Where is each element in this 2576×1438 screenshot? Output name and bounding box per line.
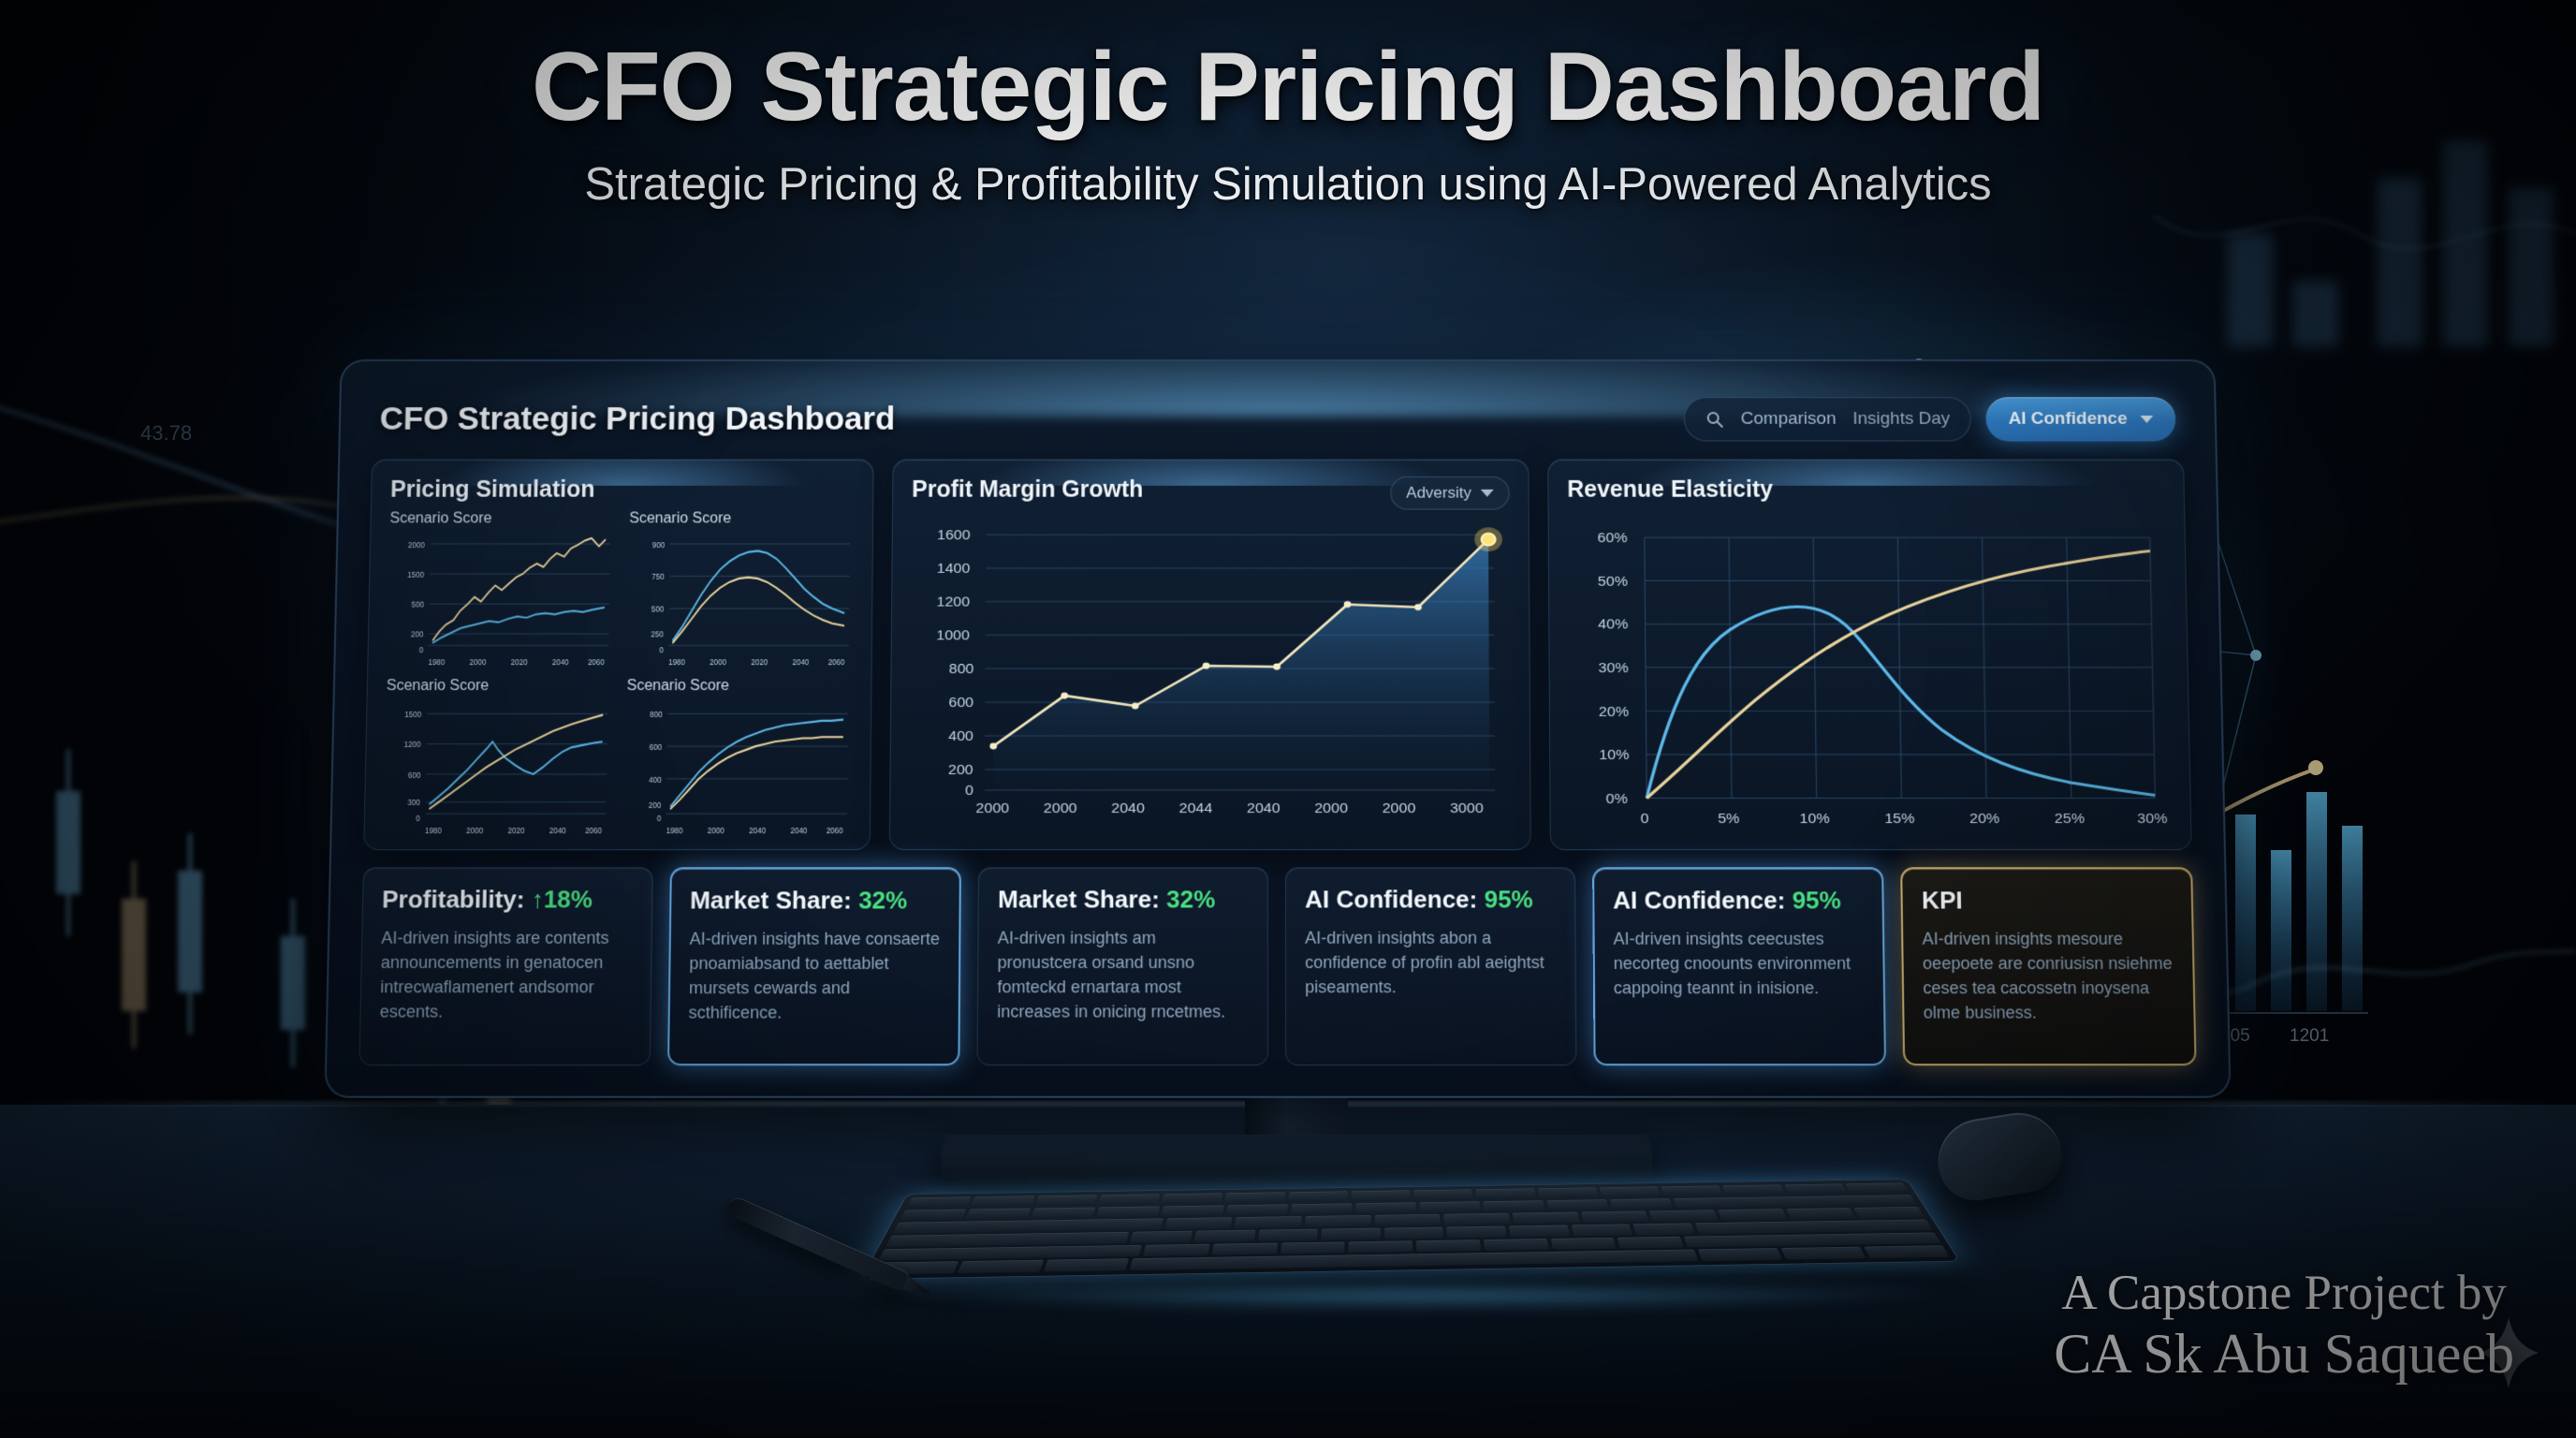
- svg-text:1400: 1400: [937, 562, 971, 577]
- keyboard-key[interactable]: [1475, 1188, 1535, 1199]
- keyboard-key[interactable]: [1321, 1228, 1381, 1240]
- keyboard-key[interactable]: [1281, 1241, 1345, 1254]
- svg-text:600: 600: [408, 770, 421, 780]
- svg-text:2060: 2060: [585, 826, 602, 836]
- credit-line-1: A Capstone Project by: [2054, 1265, 2514, 1322]
- svg-text:800: 800: [949, 662, 974, 677]
- svg-text:1980: 1980: [425, 826, 442, 836]
- keyboard-key[interactable]: [1258, 1229, 1318, 1241]
- svg-text:0: 0: [657, 813, 662, 823]
- keyboard-key[interactable]: [1034, 1195, 1098, 1206]
- kpi-card-market-share-2[interactable]: Market Share: 32% AI-driven insights am …: [977, 867, 1268, 1065]
- hero-title-block: CFO Strategic Pricing Dashboard Strategi…: [0, 32, 2576, 211]
- scenario-mini-chart-grid: Scenario Score: [384, 510, 855, 837]
- kpi-value: 95%: [1792, 886, 1841, 914]
- svg-text:0: 0: [419, 644, 424, 654]
- keyboard-backlight-glow: [884, 1288, 1943, 1309]
- keyboard-key[interactable]: [1211, 1242, 1277, 1255]
- svg-text:15%: 15%: [1884, 812, 1914, 827]
- keyboard-key[interactable]: [1161, 1205, 1223, 1216]
- keyboard-key[interactable]: [1854, 1207, 1925, 1218]
- kpi-description: AI-driven insights are contents announce…: [379, 926, 632, 1024]
- kpi-label: Market Share:: [998, 885, 1160, 913]
- keyboard-key[interactable]: [1098, 1194, 1161, 1205]
- keyboard-key[interactable]: [1235, 1216, 1302, 1228]
- mini-plot-2: 900750 5002500 198020002020 20402060: [627, 530, 854, 668]
- svg-text:10%: 10%: [1599, 748, 1629, 763]
- keyboard-key[interactable]: [1446, 1226, 1506, 1239]
- kpi-label: AI Confidence:: [1613, 886, 1785, 914]
- revenue-elasticity-plot: 60%50%40% 30%20%10% 0% 05%10% 15%20%25% …: [1567, 510, 2172, 839]
- keyboard-key[interactable]: [1143, 1244, 1209, 1256]
- svg-text:2020: 2020: [751, 657, 768, 668]
- keyboard-key-alt[interactable]: [1044, 1259, 1129, 1272]
- keyboard-key[interactable]: [1484, 1239, 1549, 1251]
- svg-text:0: 0: [965, 784, 973, 799]
- search-secondary-text: Insights Day: [1852, 409, 1950, 430]
- svg-text:300: 300: [407, 798, 420, 808]
- svg-text:1980: 1980: [668, 657, 685, 668]
- kpi-card-ai-confidence-1[interactable]: AI Confidence: 95% AI-driven insights ab…: [1285, 867, 1576, 1065]
- svg-text:250: 250: [651, 629, 664, 639]
- keyboard-key[interactable]: [1600, 1186, 1661, 1197]
- credit-block: A Capstone Project by CA Sk Abu Saqueeb: [2054, 1265, 2514, 1387]
- kpi-card-row: Profitability: ↑18% AI-driven insights a…: [359, 867, 2196, 1065]
- keyboard-key[interactable]: [1305, 1215, 1371, 1227]
- svg-text:2000: 2000: [708, 826, 724, 836]
- panel-profit-margin-growth: Profit Margin Growth Adversity: [889, 459, 1531, 850]
- keyboard-key[interactable]: [1786, 1208, 1856, 1219]
- keyboard-key[interactable]: [1571, 1225, 1632, 1237]
- dashboard-title: CFO Strategic Pricing Dashboard: [379, 401, 895, 437]
- keyboard-key[interactable]: [1291, 1203, 1352, 1214]
- kpi-title: AI Confidence: 95%: [1613, 886, 1864, 915]
- svg-text:1980: 1980: [666, 826, 683, 836]
- kpi-label: Profitability:: [382, 885, 525, 913]
- mini-chart-scenario-2[interactable]: Scenario Score 900750: [627, 510, 854, 668]
- keyboard-key[interactable]: [1355, 1202, 1416, 1213]
- svg-text:2000: 2000: [710, 657, 726, 668]
- keyboard-key[interactable]: [1546, 1199, 1609, 1211]
- keyboard-key[interactable]: [1722, 1184, 1785, 1196]
- svg-text:2040: 2040: [552, 657, 569, 668]
- svg-text:2040: 2040: [549, 826, 566, 836]
- kpi-card-profitability[interactable]: Profitability: ↑18% AI-driven insights a…: [359, 867, 652, 1065]
- keyboard-key-enter[interactable]: [1694, 1220, 1932, 1234]
- svg-text:2000: 2000: [975, 801, 1009, 816]
- svg-text:2000: 2000: [1383, 801, 1416, 816]
- keyboard-key-caps[interactable]: [885, 1232, 1130, 1247]
- mini-plot-4: 800600 4002000 198020002040 20402060: [624, 697, 852, 837]
- keyboard-key[interactable]: [1288, 1191, 1348, 1202]
- keyboard-key[interactable]: [1164, 1217, 1233, 1229]
- keyboard-key[interactable]: [1375, 1214, 1442, 1225]
- kpi-label: KPI: [1922, 886, 1963, 914]
- svg-text:1000: 1000: [936, 628, 970, 643]
- mini-chart-scenario-1[interactable]: Scenario Score: [387, 510, 614, 668]
- chevron-down-icon: [1481, 490, 1494, 497]
- svg-text:2040: 2040: [1247, 801, 1281, 816]
- keyboard-key[interactable]: [1610, 1198, 1674, 1210]
- svg-text:30%: 30%: [2137, 812, 2168, 827]
- svg-text:2060: 2060: [588, 657, 605, 668]
- svg-text:1500: 1500: [404, 709, 421, 719]
- svg-text:2040: 2040: [790, 826, 807, 836]
- kpi-title: Market Share: 32%: [690, 886, 941, 915]
- dashboard-app: CFO Strategic Pricing Dashboard Comparis…: [326, 361, 2229, 1096]
- kpi-card-ai-confidence-2[interactable]: AI Confidence: 95% AI-driven insights ce…: [1592, 867, 1887, 1065]
- mini-chart-scenario-4[interactable]: Scenario Score 800600: [624, 678, 852, 837]
- keyboard-key[interactable]: [1416, 1240, 1481, 1252]
- svg-text:1500: 1500: [407, 569, 424, 580]
- monitor: CFO Strategic Pricing Dashboard Comparis…: [324, 359, 2231, 1098]
- kpi-description: AI-driven insights have consaerte pnoami…: [688, 927, 940, 1025]
- keyboard-key[interactable]: [1784, 1184, 1848, 1196]
- svg-text:200: 200: [948, 763, 973, 778]
- keyboard-key[interactable]: [1096, 1206, 1160, 1217]
- keyboard-key[interactable]: [1131, 1231, 1193, 1243]
- svg-text:20%: 20%: [1599, 704, 1629, 719]
- svg-text:500: 500: [651, 604, 665, 614]
- keyboard-key[interactable]: [1483, 1200, 1544, 1211]
- svg-text:1980: 1980: [428, 657, 445, 668]
- svg-text:750: 750: [651, 571, 665, 581]
- keyboard-key[interactable]: [906, 1196, 971, 1208]
- keyboard-key[interactable]: [1845, 1183, 1909, 1195]
- keyboard-key[interactable]: [1513, 1212, 1580, 1224]
- keyboard-key-shift-right[interactable]: [1684, 1232, 1941, 1247]
- mini-plot-1: 20001500 5002000 198020002020 20402060: [387, 530, 614, 668]
- mini-chart-scenario-3[interactable]: Scenario Score: [384, 678, 612, 837]
- panel-title-pricing: Pricing Simulation: [390, 477, 855, 504]
- page-subtitle: Strategic Pricing & Profitability Simula…: [0, 158, 2576, 211]
- svg-text:50%: 50%: [1598, 574, 1628, 589]
- kpi-value: 95%: [1485, 885, 1533, 913]
- svg-text:1200: 1200: [404, 740, 421, 750]
- kpi-label: Market Share:: [690, 886, 852, 914]
- search-placeholder-text: Comparison: [1741, 409, 1837, 430]
- kpi-value: 32%: [1166, 885, 1215, 913]
- svg-text:2000: 2000: [1044, 801, 1077, 816]
- mini-plot-3: 15001200 6003000 198020002020 20402060: [384, 697, 612, 837]
- keyboard-key[interactable]: [1537, 1187, 1598, 1198]
- keyboard-key-alt-right[interactable]: [1698, 1248, 1782, 1261]
- keyboard-key[interactable]: [1413, 1189, 1473, 1200]
- svg-text:2060: 2060: [828, 657, 845, 668]
- kpi-title: AI Confidence: 95%: [1305, 885, 1556, 914]
- dashboard-header: CFO Strategic Pricing Dashboard Comparis…: [372, 385, 2184, 453]
- svg-text:0: 0: [659, 644, 664, 654]
- svg-text:20%: 20%: [1969, 812, 1999, 827]
- svg-text:60%: 60%: [1598, 531, 1628, 546]
- keyboard-key-shift[interactable]: [878, 1245, 1142, 1261]
- keyboard-key[interactable]: [1031, 1207, 1095, 1218]
- mini-chart-label-4: Scenario Score: [626, 678, 852, 695]
- svg-text:0: 0: [1640, 812, 1648, 827]
- keyboard-key[interactable]: [965, 1208, 1031, 1219]
- svg-text:10%: 10%: [1799, 812, 1829, 827]
- svg-text:600: 600: [948, 696, 973, 711]
- svg-text:200: 200: [411, 629, 424, 639]
- svg-text:200: 200: [649, 800, 662, 810]
- svg-text:500: 500: [412, 599, 425, 609]
- search-input[interactable]: Comparison Insights Day: [1684, 397, 1971, 441]
- credit-line-2: CA Sk Abu Saqueeb: [2054, 1322, 2514, 1387]
- keyboard-key[interactable]: [1384, 1227, 1444, 1240]
- keyboard-key[interactable]: [1226, 1204, 1288, 1215]
- svg-text:2000: 2000: [470, 657, 487, 668]
- svg-text:800: 800: [650, 709, 663, 719]
- panel-title-margin: Profit Margin Growth: [912, 477, 1143, 504]
- search-icon: [1705, 410, 1724, 429]
- keyboard-key[interactable]: [1718, 1209, 1787, 1220]
- keyboard-key[interactable]: [1509, 1225, 1570, 1238]
- kpi-title: KPI: [1922, 886, 2173, 915]
- svg-text:2040: 2040: [792, 657, 809, 668]
- keyboard-key[interactable]: [1617, 1237, 1684, 1249]
- dashboard-panels: Pricing Simulation Scenario Score: [363, 459, 2192, 850]
- monitor-stand-base: [941, 1135, 1652, 1187]
- svg-text:2040: 2040: [749, 826, 766, 836]
- ai-confidence-button[interactable]: AI Confidence: [1986, 397, 2176, 441]
- kpi-description: AI-driven insights am pronustcera orsand…: [997, 926, 1249, 1024]
- svg-text:43.78: 43.78: [140, 421, 192, 445]
- keyboard-key[interactable]: [1632, 1223, 1694, 1235]
- keyboard-key-backspace[interactable]: [1673, 1195, 1916, 1209]
- svg-text:2020: 2020: [511, 657, 528, 668]
- mini-chart-label-1: Scenario Score: [389, 510, 614, 527]
- keyboard-key[interactable]: [1351, 1190, 1410, 1201]
- keyboard-key[interactable]: [1550, 1238, 1617, 1250]
- ai-confidence-label: AI Confidence: [2009, 409, 2128, 430]
- dashboard-toolbar: Comparison Insights Day AI Confidence: [1684, 397, 2176, 441]
- kpi-card-market-share-1[interactable]: Market Share: 32% AI-driven insights hav…: [667, 867, 962, 1065]
- kpi-title: Profitability: ↑18%: [382, 885, 633, 914]
- kpi-value: ↑18%: [531, 885, 593, 913]
- keyboard-key[interactable]: [900, 1209, 966, 1220]
- poster-canvas: 43.78 $3,000$000$000: [0, 0, 2576, 1438]
- svg-text:25%: 25%: [2055, 812, 2085, 827]
- svg-text:0: 0: [416, 813, 420, 823]
- svg-text:30%: 30%: [1599, 661, 1629, 676]
- keyboard-key-win[interactable]: [958, 1260, 1044, 1273]
- keyboard-key[interactable]: [1443, 1213, 1510, 1225]
- margin-filter-label: Adversity: [1406, 484, 1471, 503]
- keyboard-key-ctrl-right[interactable]: [1864, 1246, 1950, 1259]
- keyboard-key[interactable]: [1581, 1211, 1649, 1223]
- svg-text:400: 400: [649, 774, 662, 785]
- svg-text:40%: 40%: [1598, 617, 1628, 632]
- svg-text:2060: 2060: [827, 826, 843, 836]
- svg-text:1201: 1201: [2290, 1026, 2329, 1046]
- keyboard-key[interactable]: [1419, 1201, 1481, 1212]
- keyboard-key-fn[interactable]: [1781, 1247, 1866, 1260]
- kpi-description: AI-driven insights mesoure oeepoete are …: [1923, 927, 2175, 1025]
- kpi-card-kpi[interactable]: KPI AI-driven insights mesoure oeepoete …: [1901, 867, 2197, 1065]
- svg-text:400: 400: [948, 729, 973, 744]
- svg-text:2000: 2000: [1314, 801, 1348, 816]
- svg-text:2040: 2040: [1111, 801, 1145, 816]
- svg-text:1600: 1600: [937, 528, 971, 543]
- keyboard-key[interactable]: [1349, 1240, 1413, 1253]
- svg-text:600: 600: [650, 741, 663, 752]
- page-title: CFO Strategic Pricing Dashboard: [0, 32, 2576, 143]
- monitor-screen: CFO Strategic Pricing Dashboard Comparis…: [324, 359, 2231, 1098]
- kpi-description: AI-driven insights ceecustes necorteg cn…: [1613, 927, 1865, 1001]
- keyboard-key[interactable]: [1194, 1230, 1255, 1242]
- svg-text:2044: 2044: [1179, 801, 1213, 816]
- mini-chart-label-2: Scenario Score: [629, 510, 854, 527]
- panel-revenue-elasticity: Revenue Elasticity: [1547, 459, 2192, 850]
- mini-chart-label-3: Scenario Score: [387, 678, 612, 695]
- svg-text:2000: 2000: [466, 826, 483, 836]
- svg-text:900: 900: [652, 539, 665, 550]
- keyboard-key[interactable]: [971, 1196, 1035, 1207]
- keyboard-key[interactable]: [1224, 1192, 1285, 1203]
- keyboard-key[interactable]: [1162, 1193, 1223, 1204]
- svg-text:2000: 2000: [408, 539, 425, 550]
- svg-text:2020: 2020: [507, 826, 524, 836]
- svg-text:0%: 0%: [1606, 791, 1628, 806]
- profit-margin-plot: 160014001200 1000800600 4002000 20002000…: [909, 510, 1512, 828]
- svg-text:5%: 5%: [1718, 812, 1739, 827]
- svg-text:1200: 1200: [936, 595, 970, 610]
- panel-title-elasticity: Revenue Elasticity: [1567, 477, 2165, 504]
- kpi-label: AI Confidence:: [1305, 885, 1477, 913]
- kpi-description: AI-driven insights abon a confidence of …: [1305, 926, 1556, 1000]
- keyboard-key[interactable]: [1649, 1211, 1719, 1222]
- margin-filter-dropdown[interactable]: Adversity: [1390, 477, 1509, 510]
- panel-pricing-simulation: Pricing Simulation Scenario Score: [363, 459, 873, 850]
- svg-text:3000: 3000: [1450, 801, 1484, 816]
- kpi-title: Market Share: 32%: [998, 885, 1249, 914]
- kpi-value: 32%: [858, 886, 908, 914]
- chevron-down-icon: [2140, 416, 2153, 423]
- keyboard-key[interactable]: [1661, 1185, 1722, 1196]
